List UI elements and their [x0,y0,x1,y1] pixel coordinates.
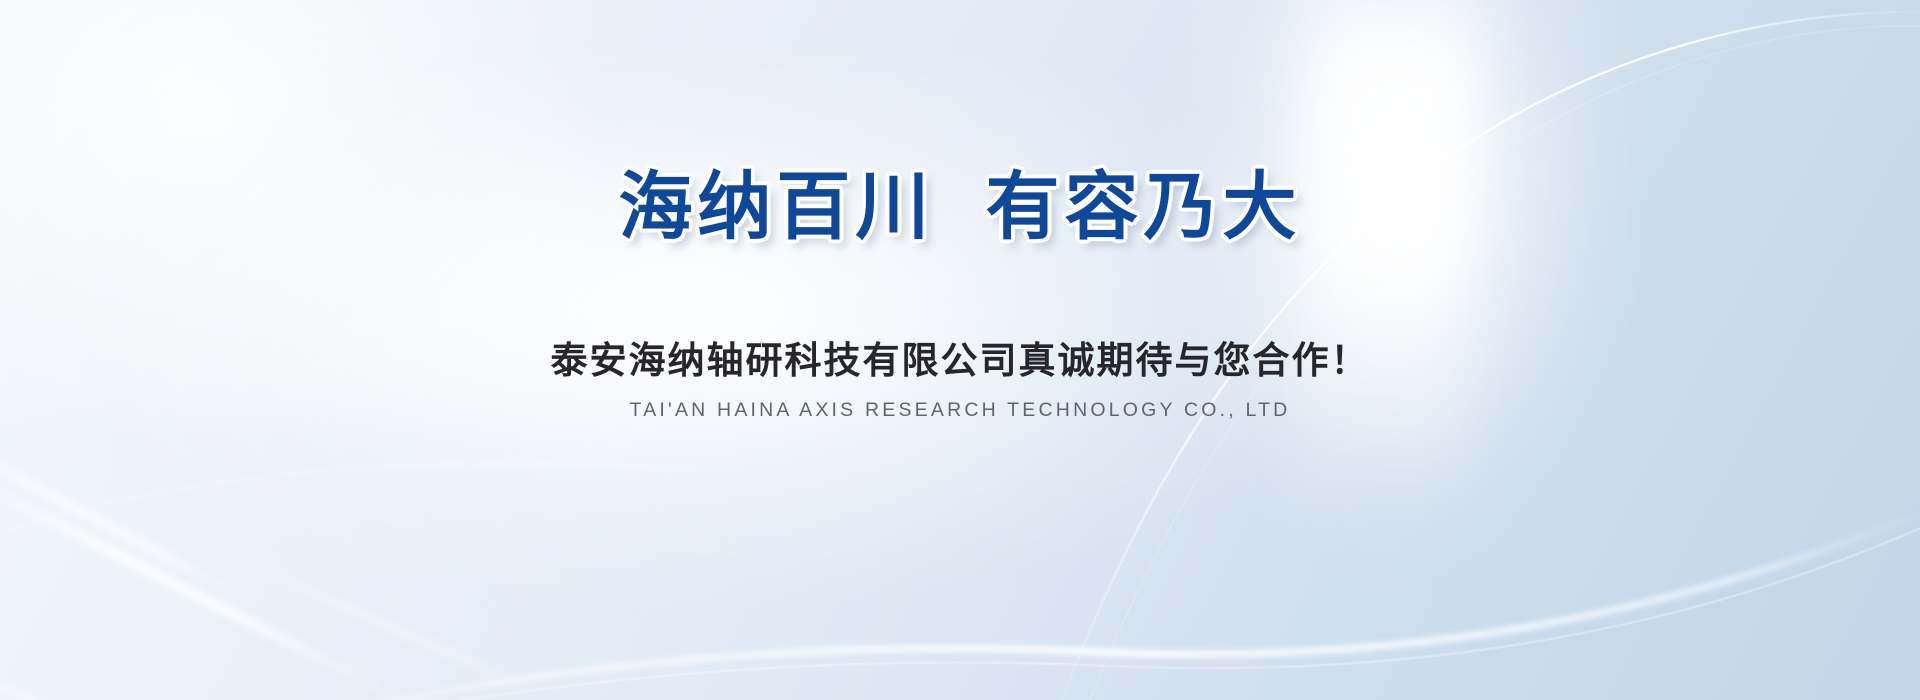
banner-subtitle: 泰安海纳轴研科技有限公司真诚期待与您合作！ [551,330,1370,384]
banner-tagline-english: TAI'AN HAINA AXIS RESEARCH TECHNOLOGY CO… [630,399,1291,422]
banner-content: 海纳百川 有容乃大 泰安海纳轴研科技有限公司真诚期待与您合作！ TAI'AN H… [0,0,1920,700]
hero-banner: 海纳百川 有容乃大 泰安海纳轴研科技有限公司真诚期待与您合作！ TAI'AN H… [0,0,1920,700]
banner-headline: 海纳百川 有容乃大 [618,168,1301,246]
